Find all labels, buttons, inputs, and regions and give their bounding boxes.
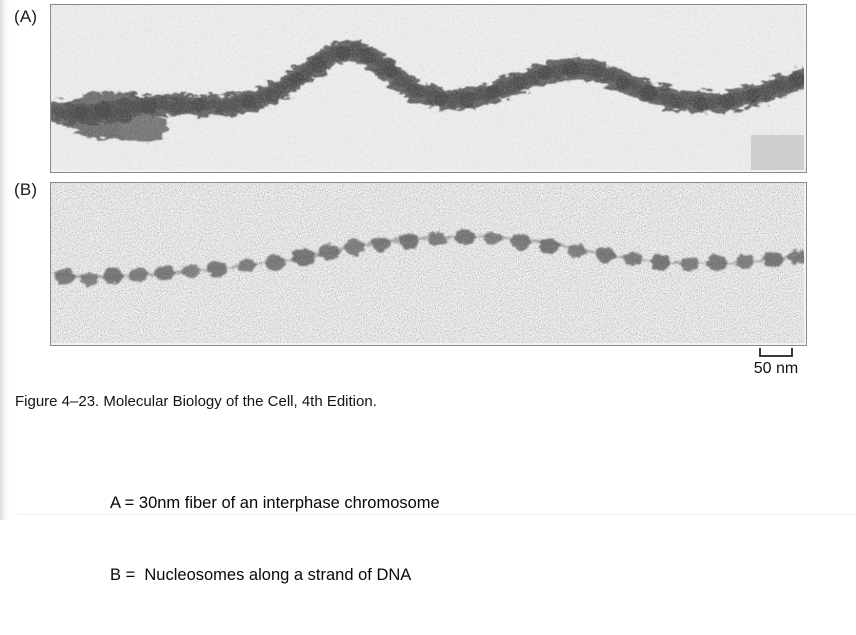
legend-line-a: A = 30nm fiber of an interphase chromoso…	[110, 491, 440, 515]
scale-bar-bracket-icon	[759, 348, 793, 357]
micrograph-b-image	[51, 183, 804, 343]
figure-page: (A)	[0, 0, 856, 520]
scale-bar: 50 nm	[744, 348, 808, 378]
micrograph-panel-a[interactable]	[50, 4, 807, 173]
figure-legend: A = 30nm fiber of an interphase chromoso…	[110, 443, 440, 635]
figure-caption: Figure 4–23. Molecular Biology of the Ce…	[15, 392, 377, 412]
page-bottom-rule	[18, 514, 856, 515]
legend-line-b: B = Nucleosomes along a strand of DNA	[110, 563, 440, 587]
panel-b-label: (B)	[14, 180, 37, 200]
micrograph-panel-b[interactable]	[50, 182, 807, 346]
panel-a-label: (A)	[14, 7, 37, 27]
scale-bar-label: 50 nm	[744, 359, 808, 378]
page-edge-shading	[0, 0, 10, 520]
micrograph-a-image	[51, 5, 804, 170]
